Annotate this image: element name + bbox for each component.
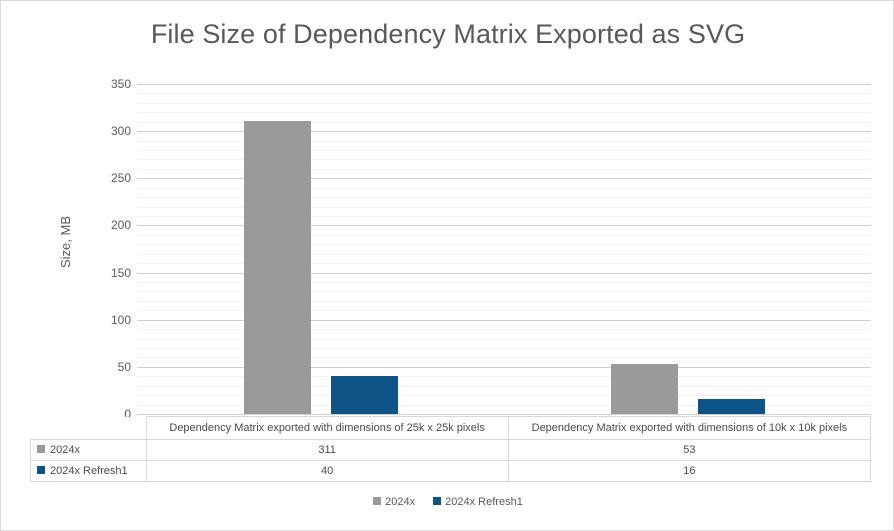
- y-tick-label: 200: [91, 219, 131, 231]
- legend-item[interactable]: 2024x: [373, 496, 415, 508]
- gridline-minor: [137, 93, 871, 94]
- table-row-header: 2024x: [31, 440, 147, 461]
- gridline-major: [137, 84, 871, 85]
- gridline-minor: [137, 103, 871, 104]
- y-tick-label: 50: [91, 361, 131, 373]
- legend-label: 2024x Refresh1: [445, 496, 523, 508]
- y-tick-label: 100: [91, 314, 131, 326]
- table-column-header: Dependency Matrix exported with dimensio…: [508, 417, 870, 440]
- legend-label: 2024x: [385, 496, 415, 508]
- table-row-header: 2024x Refresh1: [31, 461, 147, 482]
- table-cell: 53: [508, 440, 870, 461]
- table-row: 2024x Refresh14016: [31, 461, 871, 482]
- gridline-major: [137, 414, 871, 415]
- series-color-swatch-icon: [37, 466, 45, 474]
- y-tick-label: 300: [91, 125, 131, 137]
- legend-item[interactable]: 2024x Refresh1: [433, 496, 523, 508]
- table-header-row: Dependency Matrix exported with dimensio…: [31, 417, 871, 440]
- series-color-swatch-icon: [37, 445, 45, 453]
- chart-container: File Size of Dependency Matrix Exported …: [0, 0, 894, 531]
- bar: [698, 399, 765, 414]
- series-label: 2024x Refresh1: [50, 465, 128, 477]
- y-tick-label: 150: [91, 267, 131, 279]
- y-tick-label: 250: [91, 172, 131, 184]
- bar: [331, 376, 398, 414]
- table-cell: 40: [146, 461, 508, 482]
- series-label: 2024x: [50, 444, 80, 456]
- table-cell: 311: [146, 440, 508, 461]
- gridline-minor: [137, 112, 871, 113]
- bar: [244, 121, 311, 414]
- y-axis-title: Size, MB: [58, 187, 76, 297]
- table-corner-cell: [31, 417, 147, 440]
- plot-area: [137, 84, 871, 414]
- table-row: 2024x31153: [31, 440, 871, 461]
- table-column-header: Dependency Matrix exported with dimensio…: [146, 417, 508, 440]
- chart-title: File Size of Dependency Matrix Exported …: [1, 19, 894, 50]
- legend-color-swatch-icon: [433, 497, 441, 505]
- chart-legend: 2024x2024x Refresh1: [1, 496, 894, 508]
- table-cell: 16: [508, 461, 870, 482]
- y-tick-label: 350: [91, 78, 131, 90]
- y-axis-tick-labels: 050100150200250300350: [89, 84, 131, 414]
- bar: [611, 364, 678, 414]
- legend-color-swatch-icon: [373, 497, 381, 505]
- data-table: Dependency Matrix exported with dimensio…: [30, 416, 871, 482]
